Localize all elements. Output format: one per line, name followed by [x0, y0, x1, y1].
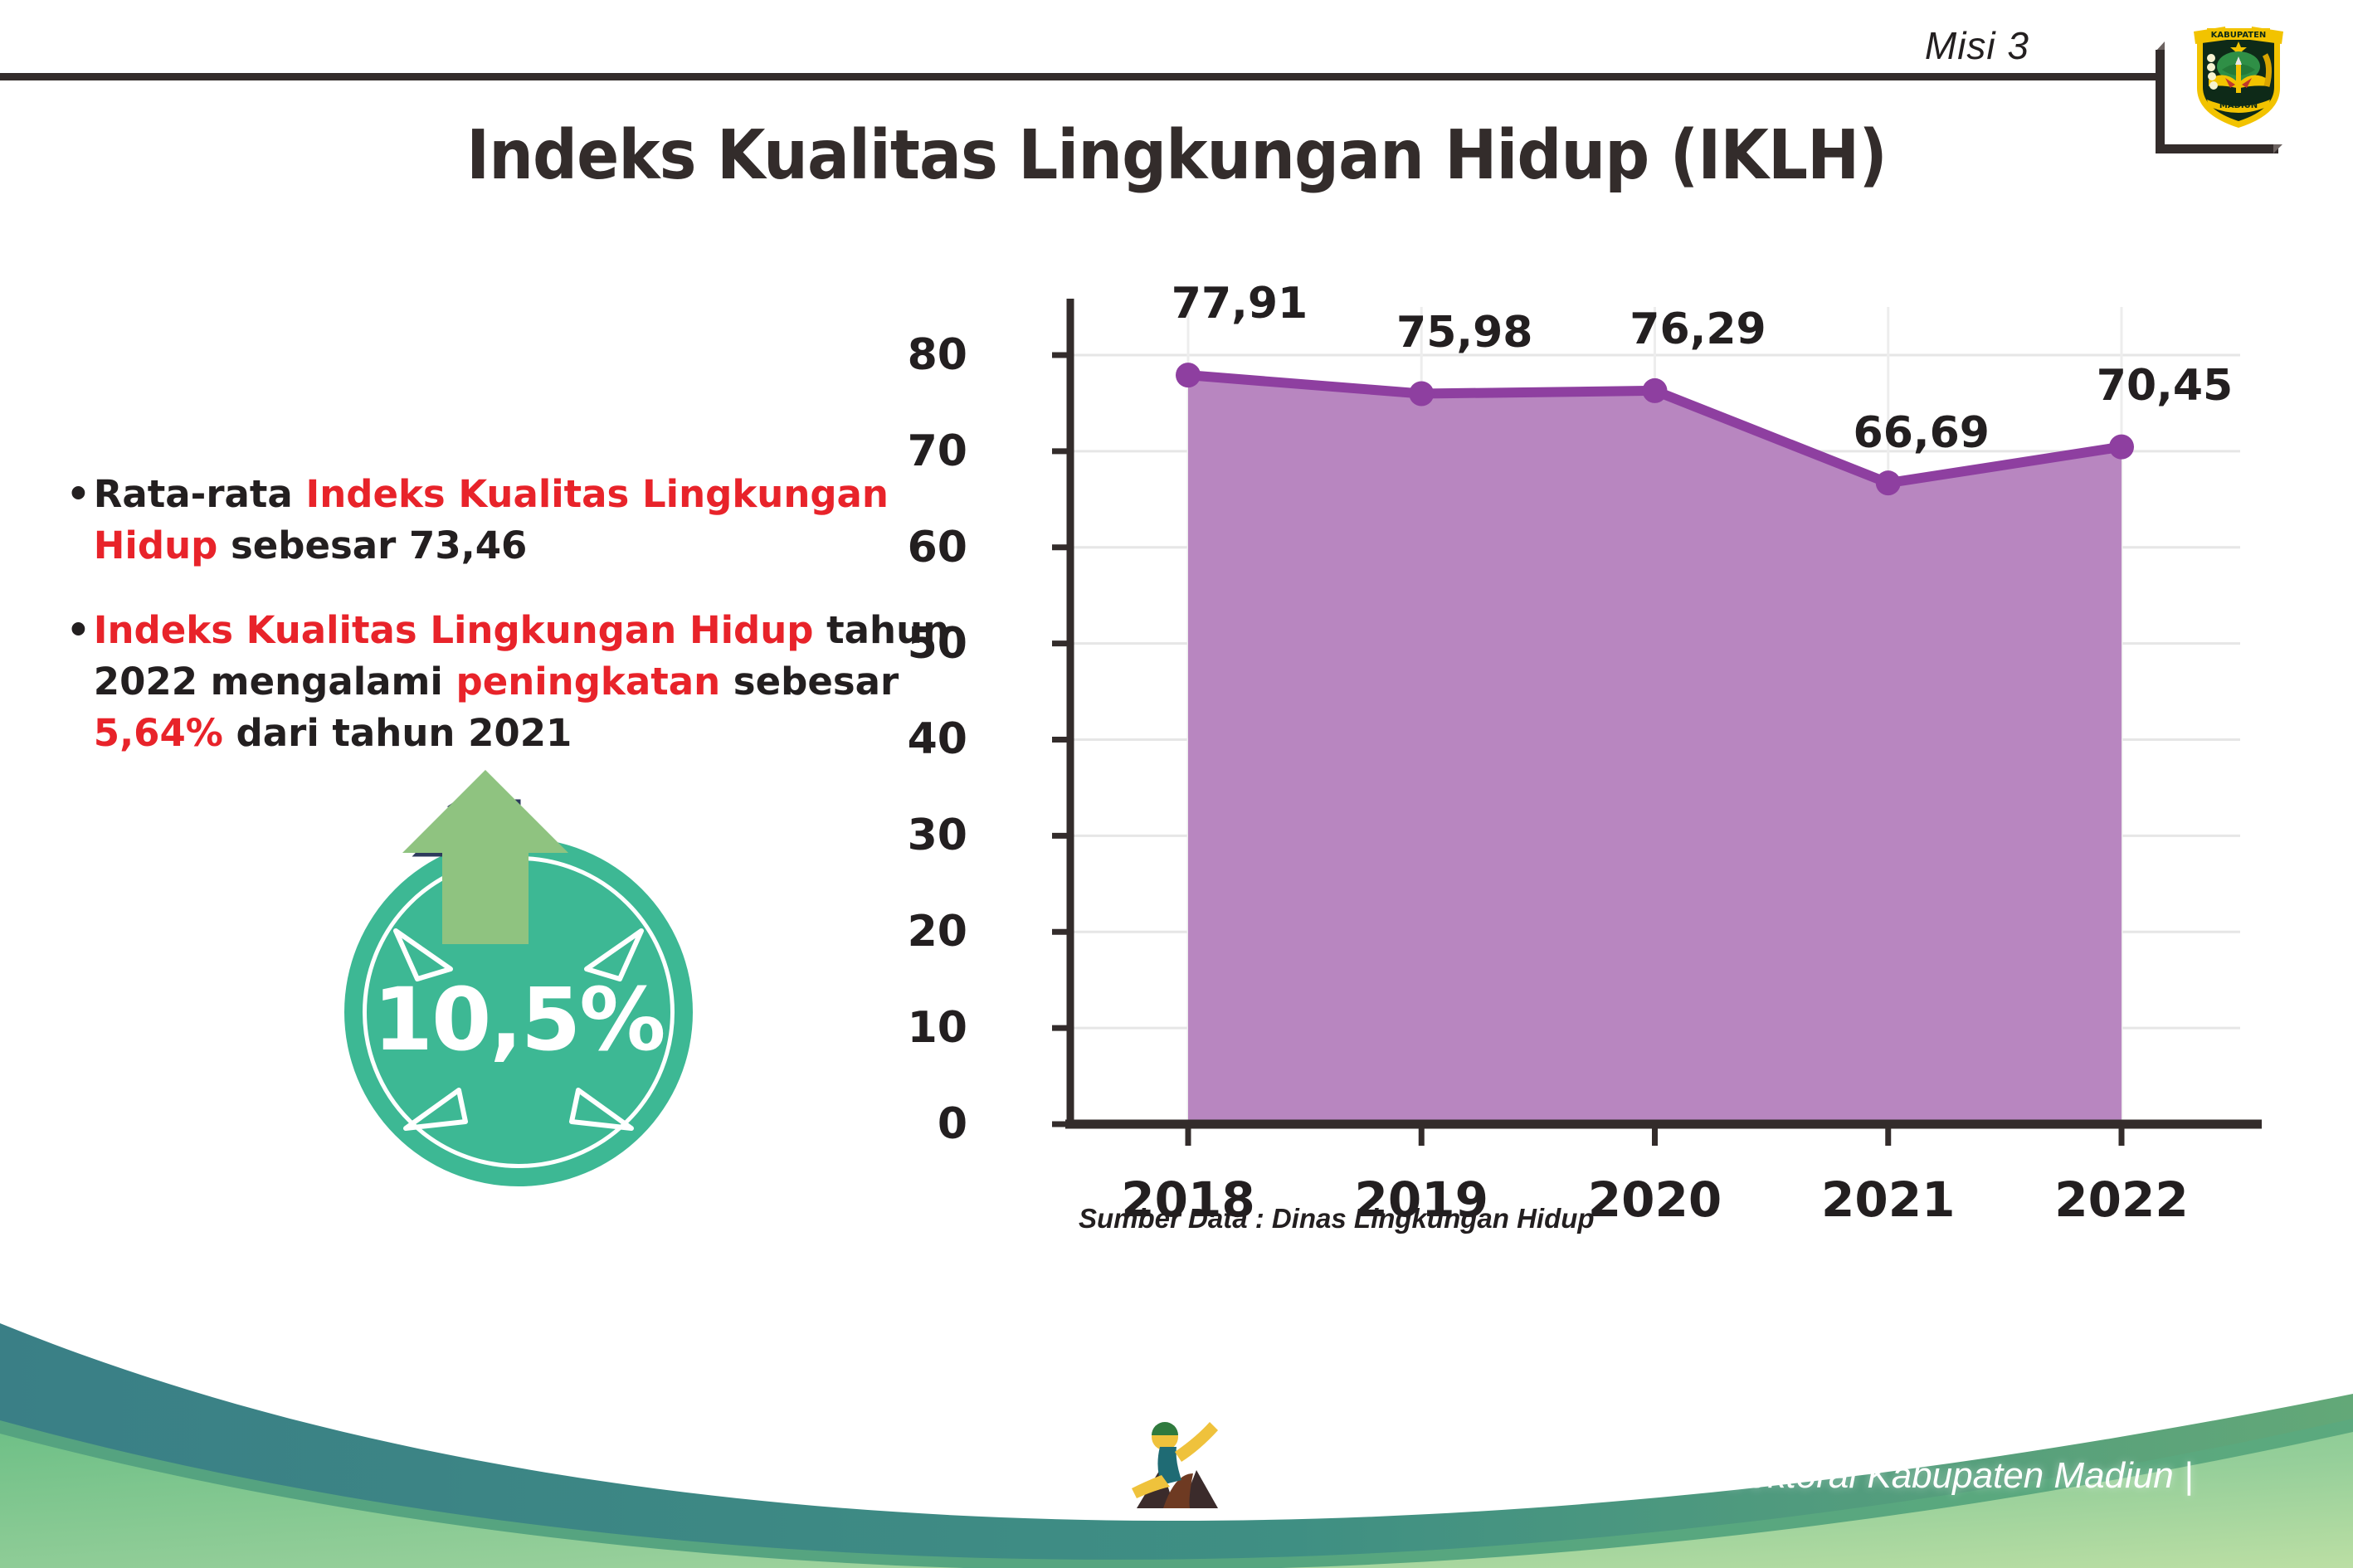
data-value-label: 77,91 — [1172, 279, 1308, 329]
y-tick-label: 60 — [908, 523, 967, 572]
chart-source-note: Sumber Data : Dinas Lingkungan Hidup — [1079, 1203, 1595, 1234]
chart-canvas — [979, 290, 2273, 1186]
svg-text:KABUPATEN: KABUPATEN — [2211, 31, 2267, 40]
x-tick-label: 2020 — [1588, 1171, 1722, 1228]
svg-text:MADIUN: MADIUN — [2219, 101, 2258, 110]
infographic-page: Misi 3 KABUPATEN MADIUN Indeks Kualitas … — [0, 0, 2353, 1568]
misi-label: Misi 3 — [1925, 23, 2029, 68]
x-tick-label: 2022 — [2054, 1171, 2188, 1228]
page-title: Indeks Kualitas Lingkungan Hidup (IKLH) — [94, 116, 2258, 195]
bullet2-seg3: peningkatan — [455, 660, 720, 704]
header-rule — [0, 73, 2163, 80]
y-tick-label: 20 — [908, 907, 967, 957]
x-tick-label: 2021 — [1821, 1171, 1955, 1228]
bullet2-seg5: 5,64% — [94, 711, 223, 755]
y-tick-label: 10 — [908, 1003, 967, 1053]
footer-caption: Media Infografis Data Statistik Sektoral… — [1228, 1455, 2193, 1497]
badge-percent-label: 10,5% — [344, 969, 693, 1070]
y-tick-label: 40 — [908, 714, 967, 764]
list-item: • Rata-rata Indeks Kualitas Lingkungan H… — [66, 469, 971, 572]
bullet1-seg1: Rata-rata — [94, 472, 306, 516]
bullet2-seg4: sebesar — [720, 660, 899, 704]
header-bracket-tip-right — [2273, 144, 2282, 153]
y-tick-label: 30 — [908, 811, 967, 860]
data-value-label: 75,98 — [1396, 308, 1532, 358]
y-tick-label: 80 — [908, 330, 967, 380]
bullet-marker: • — [66, 469, 90, 572]
bullet-marker: • — [66, 605, 90, 759]
data-value-label: 66,69 — [1854, 408, 1990, 458]
iklh-area-chart: 01020304050607080 20182019202020212022 7… — [979, 290, 2273, 1186]
bullet-text-1: Rata-rata Indeks Kualitas Lingkungan Hid… — [94, 469, 971, 572]
increase-badge: 10,5% — [319, 747, 759, 1195]
media-infografis-logo-icon — [1127, 1409, 1226, 1517]
bullet1-seg3: sebesar 73,46 — [217, 523, 527, 567]
bullet-text-2: Indeks Kualitas Lingkungan Hidup tahun 2… — [94, 605, 971, 759]
y-tick-label: 50 — [908, 619, 967, 669]
y-tick-label: 70 — [908, 426, 967, 476]
up-arrow-icon — [402, 770, 568, 944]
kabupaten-madiun-emblem-icon: KABUPATEN MADIUN — [2189, 15, 2288, 131]
data-value-label: 76,29 — [1630, 304, 1766, 354]
data-value-label: 70,45 — [2097, 361, 2233, 411]
list-item: • Indeks Kualitas Lingkungan Hidup tahun… — [66, 605, 971, 759]
bullet2-seg1: Indeks Kualitas Lingkungan Hidup — [94, 608, 814, 652]
y-tick-label: 0 — [938, 1099, 967, 1149]
bullet-list: • Rata-rata Indeks Kualitas Lingkungan H… — [66, 469, 971, 792]
